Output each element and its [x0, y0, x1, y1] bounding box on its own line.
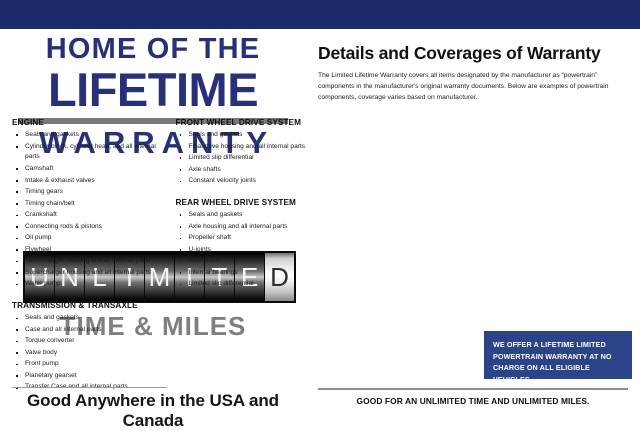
- coverage-list-transmission: Seals and gasketsCase and all internal p…: [12, 313, 167, 393]
- coverage-list-item: Crankshaft: [12, 210, 167, 221]
- coverage-list-item: Seals and gaskets: [12, 313, 167, 324]
- coverage-list-item: Internal bearings: [176, 268, 331, 279]
- coverage-list-item: Torque converter: [12, 336, 167, 347]
- headline-line-home: HOME OF THE: [0, 35, 306, 64]
- coverage-list-item: Supercharger housing and all internal pa…: [12, 268, 167, 279]
- coverage-list-item: Seals and gaskets: [176, 130, 331, 141]
- section-heading-engine: ENGINE: [12, 118, 167, 127]
- top-navy-band: [0, 0, 640, 29]
- coverage-list-item: Axle shafts: [176, 165, 331, 176]
- coverage-list-fwd: Seals and gasketsFinal drive housing and…: [176, 130, 331, 187]
- details-title: Details and Coverages of Warranty: [318, 43, 632, 64]
- coverage-list-rwd: Seals and gasketsAxle housing and all in…: [176, 210, 331, 290]
- coverage-list-item: Timing gears: [12, 187, 167, 198]
- coverage-list-item: Limited slip differential: [176, 153, 331, 164]
- coverage-list-item: Water pump: [12, 279, 167, 290]
- coverage-list-engine: Seals and gasketsCylinder block, cylinde…: [12, 130, 167, 290]
- coverage-list-item: Constant velocity joints: [176, 176, 331, 187]
- offer-callout-text: WE OFFER A LIFETIME LIMITED POWERTRAIN W…: [493, 339, 623, 386]
- coverage-list-item: Final drive housing and all internal par…: [176, 142, 331, 153]
- coverage-list-item: Oil pump: [12, 233, 167, 244]
- section-heading-transmission: TRANSMISSION & TRANSAXLE: [12, 301, 167, 310]
- footer-note: GOOD FOR AN UNLIMITED TIME AND UNLIMITED…: [318, 396, 628, 408]
- coverage-list-item: Propeller shaft: [176, 233, 331, 244]
- coverage-list-item: Case and all internal parts: [12, 325, 167, 336]
- details-intro-paragraph: The Limited Lifetime Warranty covers all…: [318, 71, 630, 104]
- coverage-list-item: Turbocharger housing and all internal pa…: [12, 256, 167, 267]
- coverage-list-item: Axle shafts: [176, 256, 331, 267]
- transmission-section-divider: [12, 387, 167, 388]
- section-heading-fwd: FRONT WHEEL DRIVE SYSTEM: [176, 118, 331, 127]
- headline-line-lifetime: LIFETIME: [0, 66, 306, 114]
- footer-divider: [318, 388, 628, 390]
- coverage-list-item: Seals and gaskets: [12, 130, 167, 141]
- offer-callout-box: WE OFFER A LIFETIME LIMITED POWERTRAIN W…: [484, 331, 632, 379]
- coverage-column-right: FRONT WHEEL DRIVE SYSTEM Seals and gaske…: [176, 118, 331, 394]
- coverage-list-item: Planetary gearset: [12, 371, 167, 382]
- coverage-column-left: ENGINE Seals and gasketsCylinder block, …: [12, 118, 167, 394]
- coverage-columns: ENGINE Seals and gasketsCylinder block, …: [12, 118, 330, 394]
- coverage-list-item: Cylinder block, cylinder head, and all i…: [12, 142, 167, 164]
- warranty-flyer: HOME OF THE LIFETIME WARRANTY UNLIMITED …: [0, 0, 640, 426]
- coverage-list-item: Seals and gaskets: [176, 210, 331, 221]
- coverage-area-tagline: Good Anywhere in the USA and Canada: [0, 391, 306, 431]
- section-heading-rwd: REAR WHEEL DRIVE SYSTEM: [176, 198, 331, 207]
- coverage-list-item: Axle housing and all internal parts: [176, 222, 331, 233]
- coverage-list-item: Timing chain/belt: [12, 199, 167, 210]
- coverage-list-item: U-joints: [176, 245, 331, 256]
- coverage-list-item: Intake & exhaust valves: [12, 176, 167, 187]
- coverage-list-item: Flywheel: [12, 245, 167, 256]
- coverage-list-item: Valve body: [12, 348, 167, 359]
- coverage-list-item: Limited slip differential: [176, 279, 331, 290]
- coverage-list-item: Connecting rods & pistons: [12, 222, 167, 233]
- coverage-list-item: Front pump: [12, 359, 167, 370]
- coverage-list-item: Camshaft: [12, 164, 167, 175]
